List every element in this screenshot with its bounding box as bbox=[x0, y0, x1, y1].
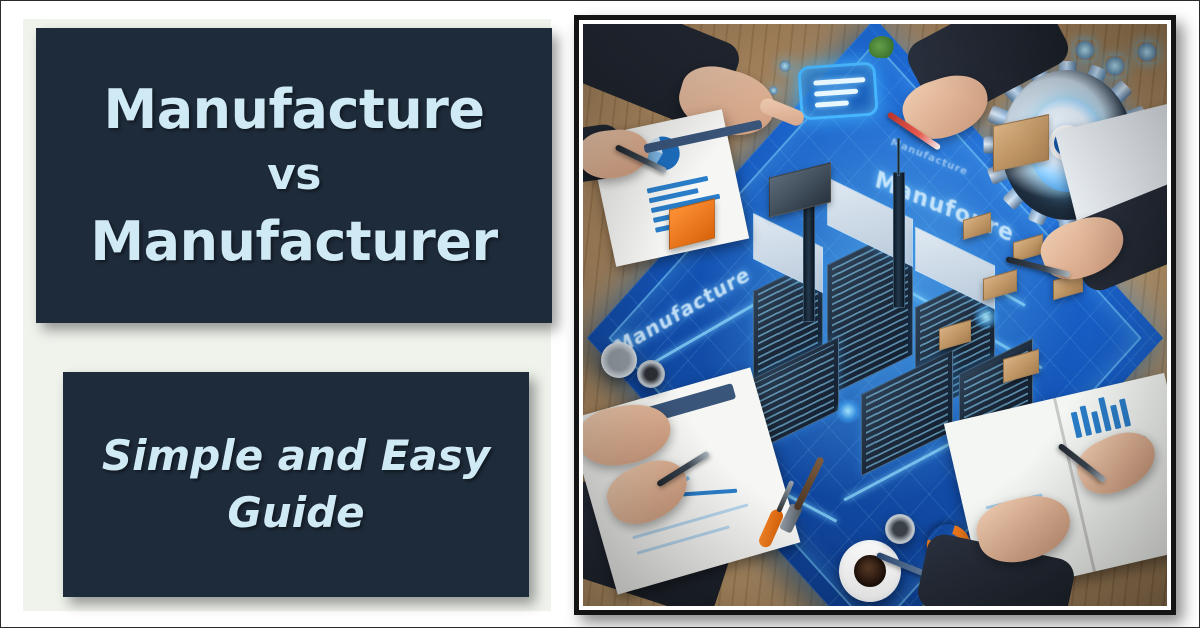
smoke-stack bbox=[893, 172, 905, 308]
mini-gear-icon bbox=[1105, 56, 1125, 76]
subtitle-line-2: Guide bbox=[227, 485, 364, 542]
line-chart-stroke bbox=[637, 525, 730, 554]
illustration-mat: Manufacture Manufoure Manufacture bbox=[579, 20, 1171, 610]
subtitle-line-1: Simple and Easy bbox=[102, 428, 490, 485]
factory-illustration: Manufacture Manufoure Manufacture bbox=[583, 24, 1167, 606]
mini-gear-icon bbox=[1137, 42, 1157, 62]
title-card: Manufacture vs Manufacturer bbox=[36, 28, 552, 323]
title-line-1: Manufacture bbox=[103, 78, 484, 142]
metal-ring bbox=[885, 514, 915, 544]
glow-node-icon bbox=[835, 398, 861, 424]
chart-bar bbox=[1110, 404, 1121, 429]
subtitle-card: Simple and Easy Guide bbox=[63, 372, 529, 597]
title-line-2: vs bbox=[267, 141, 321, 209]
left-column: Manufacture vs Manufacturer Simple and E… bbox=[1, 1, 567, 628]
glow-node-icon bbox=[973, 304, 999, 330]
mini-gear-icon bbox=[1075, 40, 1095, 60]
title-line-3: Manufacturer bbox=[90, 210, 497, 274]
poster-canvas: Manufacture vs Manufacturer Simple and E… bbox=[0, 0, 1200, 628]
hud-badge-icon bbox=[797, 61, 879, 120]
potted-plant bbox=[869, 36, 895, 58]
chart-bar bbox=[1080, 405, 1093, 436]
antenna-mast bbox=[897, 138, 900, 176]
metal-washer bbox=[637, 360, 665, 388]
chart-bar bbox=[1091, 411, 1102, 434]
chart-bar bbox=[647, 176, 709, 194]
glow-node-icon bbox=[779, 60, 791, 72]
chart-bar bbox=[1119, 398, 1131, 427]
metal-washer bbox=[601, 342, 637, 378]
smoke-stack bbox=[803, 202, 815, 322]
illustration-frame: Manufacture Manufoure Manufacture bbox=[574, 15, 1176, 615]
